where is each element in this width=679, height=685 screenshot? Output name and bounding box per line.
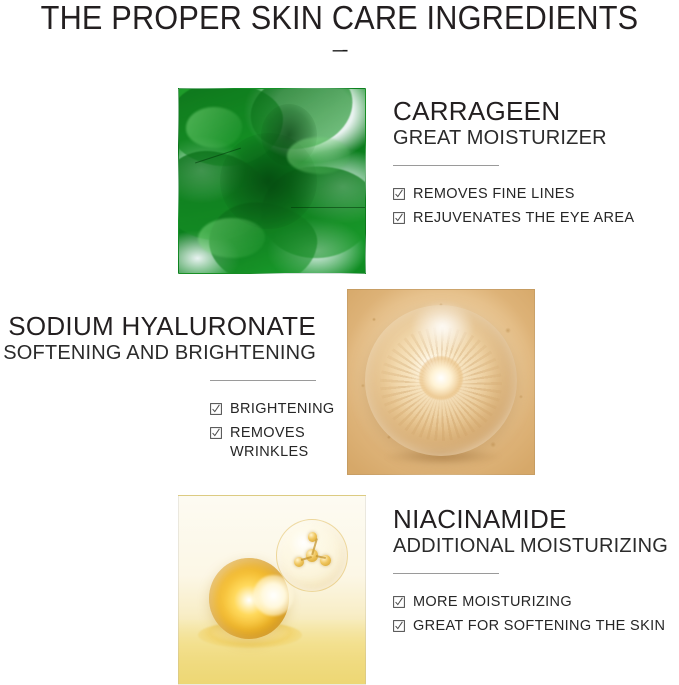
ingredient-image-carrageen [178, 88, 366, 274]
checked-box-icon [393, 596, 405, 608]
ingredient-text-niacinamide: NIACINAMIDE ADDITIONAL MOISTURIZING MORE… [393, 505, 675, 641]
title-dash-divider: –- [0, 40, 679, 60]
molecule-bubble [276, 519, 349, 592]
feature-item: REMOVES WRINKLES [210, 424, 316, 462]
leaf-artwork [179, 89, 365, 273]
ingredient-image-niacinamide [178, 495, 366, 685]
feature-label: MORE MOISTURIZING [413, 593, 572, 612]
ingredient-image-sodium-hyaluronate [347, 289, 535, 475]
feature-list: REMOVES FINE LINES REJUVENATES THE EYE A… [393, 185, 673, 228]
feature-list: MORE MOISTURIZING GREAT FOR SOFTENING TH… [393, 593, 675, 636]
checked-box-icon [393, 620, 405, 632]
oil-drop-artwork [179, 496, 365, 684]
feature-label: BRIGHTENING [230, 400, 335, 419]
leaf-highlight [198, 218, 265, 258]
leaf-vein [291, 207, 365, 208]
section-divider [393, 165, 499, 166]
feature-item: REJUVENATES THE EYE AREA [393, 209, 673, 228]
ingredient-text-carrageen: CARRAGEEN GREAT MOISTURIZER REMOVES FINE… [393, 97, 673, 233]
leaf-highlight [186, 107, 242, 147]
feature-item: GREAT FOR SOFTENING THE SKIN [393, 617, 675, 636]
checked-box-icon [210, 403, 222, 415]
sphere-top-glow [411, 301, 474, 353]
checked-box-icon [393, 212, 405, 224]
page-title: THE PROPER SKIN CARE INGREDIENTS [24, 0, 655, 36]
leaf-highlight [287, 137, 350, 174]
ingredient-text-sodium-hyaluronate: SODIUM HYALURONATE SOFTENING AND BRIGHTE… [0, 312, 316, 467]
feature-label: GREAT FOR SOFTENING THE SKIN [413, 617, 665, 636]
feature-label: REJUVENATES THE EYE AREA [413, 209, 634, 228]
checked-box-icon [210, 427, 222, 439]
ingredient-subtitle: ADDITIONAL MOISTURIZING [393, 534, 675, 558]
feature-label: REMOVES WRINKLES [230, 424, 309, 462]
ingredient-subtitle: GREAT MOISTURIZER [393, 126, 673, 150]
section-divider [210, 380, 316, 381]
ingredient-subtitle: SOFTENING AND BRIGHTENING [0, 341, 316, 365]
golden-sphere-artwork [348, 290, 534, 474]
ingredient-name: SODIUM HYALURONATE [0, 312, 316, 341]
feature-item: MORE MOISTURIZING [393, 593, 675, 612]
feature-list: BRIGHTENING REMOVES WRINKLES [0, 400, 316, 462]
ingredient-name: CARRAGEEN [393, 97, 673, 126]
molecule-diagram [277, 520, 348, 591]
feature-item: BRIGHTENING [210, 400, 316, 419]
section-divider [393, 573, 499, 574]
ingredient-name: NIACINAMIDE [393, 505, 675, 534]
checked-box-icon [393, 188, 405, 200]
feature-item: REMOVES FINE LINES [393, 185, 673, 204]
feature-label: REMOVES FINE LINES [413, 185, 575, 204]
